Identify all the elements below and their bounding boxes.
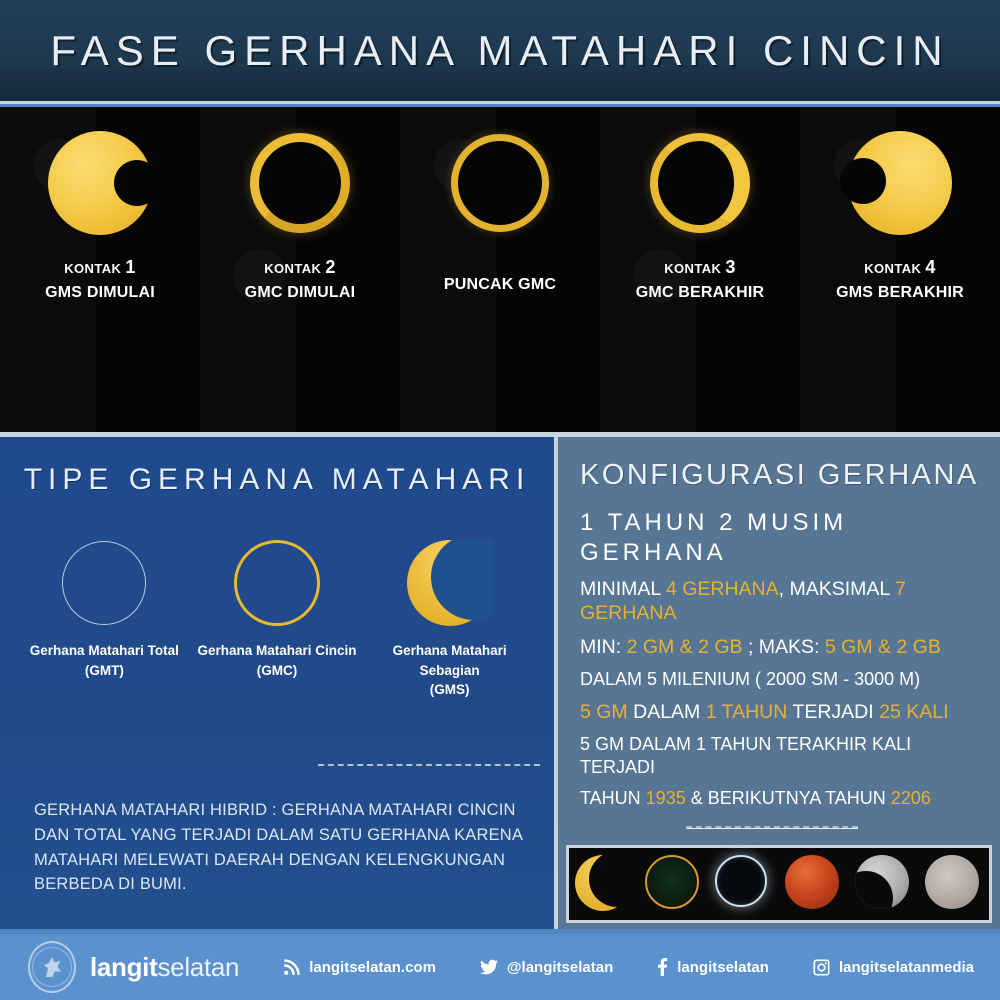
highlight-segment: 25 KALI: [879, 701, 948, 723]
partial-sun-bite-left-icon: [842, 125, 958, 241]
right-dashed-divider: [686, 826, 858, 829]
highlight-segment: 1 TAHUN: [706, 701, 788, 723]
type-item-gms: Gerhana Matahari Sebagian (GMS): [367, 535, 532, 700]
highlight-segment: 5 GM & 2 GB: [825, 636, 941, 658]
link-label: langitselatan: [677, 959, 769, 976]
partial-lunar-photo-icon: [855, 855, 913, 913]
brand-wordmark: langitselatan: [90, 952, 239, 983]
annular-dark-disc-photo-icon: [645, 855, 703, 913]
infographic-page: FASE GERHANA MATAHARI CINCIN KONTAK 1 GM…: [0, 0, 1000, 1000]
highlight-segment: 1935: [646, 788, 686, 808]
brand-light: selatan: [157, 952, 239, 982]
twitter-icon: [480, 959, 498, 975]
type-name: Gerhana Matahari Total: [30, 641, 179, 661]
type-name: Gerhana Matahari Cincin: [197, 641, 356, 661]
config-lines: 1 TAHUN 2 MUSIM GERHANA MINIMAL 4 GERHAN…: [580, 508, 990, 810]
type-label: Gerhana Matahari Sebagian (GMS): [367, 641, 532, 700]
config-line-last-occurrence: 5 GM DALAM 1 TAHUN TERAKHIR KALI TERJADI: [580, 733, 990, 778]
phase-caption: KONTAK 2 GMC DIMULAI: [245, 255, 356, 304]
phase-row: KONTAK 1 GMS DIMULAI KONTAK 2 GMC DIMULA…: [0, 107, 1000, 432]
contact-line: KONTAK 1: [45, 255, 155, 279]
header-bar: FASE GERHANA MATAHARI CINCIN: [0, 0, 1000, 104]
blood-moon-photo-icon: [785, 855, 843, 913]
footer-bar: langitselatan langitselatan.com: [0, 934, 1000, 1000]
eclipse-config-panel: KONFIGURASI GERHANA 1 TAHUN 2 MUSIM GERH…: [558, 437, 1000, 929]
mid-section: TIPE GERHANA MATAHARI Gerhana Matahari T…: [0, 437, 1000, 929]
contact-number: 1: [125, 257, 135, 277]
type-label: Gerhana Matahari Total (GMT): [30, 641, 179, 680]
phase-caption: KONTAK 4 GMS BERAKHIR: [836, 255, 964, 304]
config-line-minmax: MIN: 2 GM & 2 GB ; MAKS: 5 GM & 2 GB: [580, 635, 990, 659]
facebook-icon: [657, 958, 668, 976]
phase-name: GMS DIMULAI: [45, 282, 155, 304]
link-label: langitselatanmedia: [839, 959, 974, 976]
page-title: FASE GERHANA MATAHARI CINCIN: [50, 27, 949, 75]
phase-item-kontak-4: KONTAK 4 GMS BERAKHIR: [800, 107, 1000, 304]
types-panel-title: TIPE GERHANA MATAHARI: [0, 463, 554, 497]
contact-label: KONTAK: [64, 261, 121, 276]
phase-item-kontak-1: KONTAK 1 GMS DIMULAI: [0, 107, 200, 304]
highlight-segment: 4 GERHANA: [666, 578, 779, 600]
type-item-gmt: Gerhana Matahari Total (GMT): [22, 535, 187, 680]
phase-item-puncak: PUNCAK GMC: [400, 107, 600, 296]
hybrid-note: GERHANA MATAHARI HIBRID : GERHANA MATAHA…: [34, 798, 530, 897]
phase-name: GMC DIMULAI: [245, 282, 356, 304]
config-line-frequency: 5 GM DALAM 1 TAHUN TERJADI 25 KALI: [580, 700, 990, 724]
text-segment: ; MAKS:: [743, 636, 825, 658]
contact-number: 3: [725, 257, 735, 277]
annulus-ring-offset-icon: [642, 125, 758, 241]
phase-caption: KONTAK 3 GMC BERAKHIR: [636, 255, 765, 304]
highlight-segment: 5 GM: [580, 701, 628, 723]
text-segment: & BERIKUTNYA TAHUN: [686, 788, 891, 808]
phase-item-kontak-2: KONTAK 2 GMC DIMULAI: [200, 107, 400, 304]
type-abbr: (GMC): [197, 661, 356, 681]
rss-icon: [283, 959, 300, 976]
total-eclipse-circle-icon: [62, 535, 146, 631]
highlight-segment: 2206: [891, 788, 931, 808]
text-segment: MIN:: [580, 636, 627, 658]
social-links: langitselatan.com @langitselatan langits…: [239, 958, 974, 976]
type-abbr: (GMT): [30, 661, 179, 681]
eclipse-phases-section: KONTAK 1 GMS DIMULAI KONTAK 2 GMC DIMULA…: [0, 107, 1000, 432]
link-facebook[interactable]: langitselatan: [657, 958, 769, 976]
type-name: Gerhana Matahari Sebagian: [367, 641, 532, 680]
contact-number: 2: [325, 257, 335, 277]
phase-name: GMS BERAKHIR: [836, 282, 964, 304]
link-label: langitselatan.com: [309, 959, 436, 976]
total-corona-photo-icon: [715, 855, 773, 913]
contact-line: KONTAK 2: [245, 255, 356, 279]
eclipse-types-panel: TIPE GERHANA MATAHARI Gerhana Matahari T…: [0, 437, 558, 929]
annulus-ring-icon: [242, 125, 358, 241]
brand-bold: langit: [90, 952, 158, 982]
partial-eclipse-crescent-icon: [407, 535, 493, 631]
type-item-gmc: Gerhana Matahari Cincin (GMC): [194, 535, 359, 680]
eclipse-photo-strip: [566, 845, 992, 923]
phase-caption: KONTAK 1 GMS DIMULAI: [45, 255, 155, 304]
link-website[interactable]: langitselatan.com: [283, 959, 436, 976]
phase-name: GMC BERAKHIR: [636, 282, 765, 304]
contact-label: KONTAK: [664, 261, 721, 276]
config-line-years: TAHUN 1935 & BERIKUTNYA TAHUN 2206: [580, 787, 990, 810]
highlight-segment: 2 GM & 2 GB: [627, 636, 743, 658]
text-segment: TERJADI: [787, 701, 879, 723]
type-label: Gerhana Matahari Cincin (GMC): [197, 641, 356, 680]
config-line-count: MINIMAL 4 GERHANA, MAKSIMAL 7 GERHANA: [580, 577, 990, 626]
annulus-ring-thin-icon: [442, 125, 558, 241]
config-panel-title: KONFIGURASI GERHANA: [580, 459, 1000, 492]
annular-eclipse-ring-icon: [234, 535, 320, 631]
instagram-icon: [813, 959, 830, 976]
annular-crescent-photo-icon: [575, 855, 633, 913]
link-instagram[interactable]: langitselatanmedia: [813, 959, 974, 976]
types-row: Gerhana Matahari Total (GMT) Gerhana Mat…: [0, 535, 554, 700]
text-segment: TAHUN: [580, 788, 646, 808]
config-line-seasons: 1 TAHUN 2 MUSIM GERHANA: [580, 508, 990, 568]
phase-caption: PUNCAK GMC: [444, 255, 556, 296]
partial-sun-bite-right-icon: [42, 125, 158, 241]
text-segment: , MAKSIMAL: [779, 578, 895, 600]
link-twitter[interactable]: @langitselatan: [480, 959, 613, 976]
contact-label: KONTAK: [864, 261, 921, 276]
contact-line: KONTAK 4: [836, 255, 964, 279]
contact-label: KONTAK: [264, 261, 321, 276]
type-abbr: (GMS): [367, 680, 532, 700]
full-moon-photo-icon: [925, 855, 983, 913]
contact-number: 4: [925, 257, 935, 277]
left-dashed-divider: [318, 764, 540, 766]
config-line-millennium: DALAM 5 MILENIUM ( 2000 SM - 3000 M): [580, 668, 990, 691]
langitselatan-logo-icon: [28, 941, 76, 993]
text-segment: DALAM: [628, 701, 706, 723]
phase-item-kontak-3: KONTAK 3 GMC BERAKHIR: [600, 107, 800, 304]
text-segment: MINIMAL: [580, 578, 666, 600]
contact-line: KONTAK 3: [636, 255, 765, 279]
phase-name: PUNCAK GMC: [444, 274, 556, 296]
link-label: @langitselatan: [507, 959, 613, 976]
